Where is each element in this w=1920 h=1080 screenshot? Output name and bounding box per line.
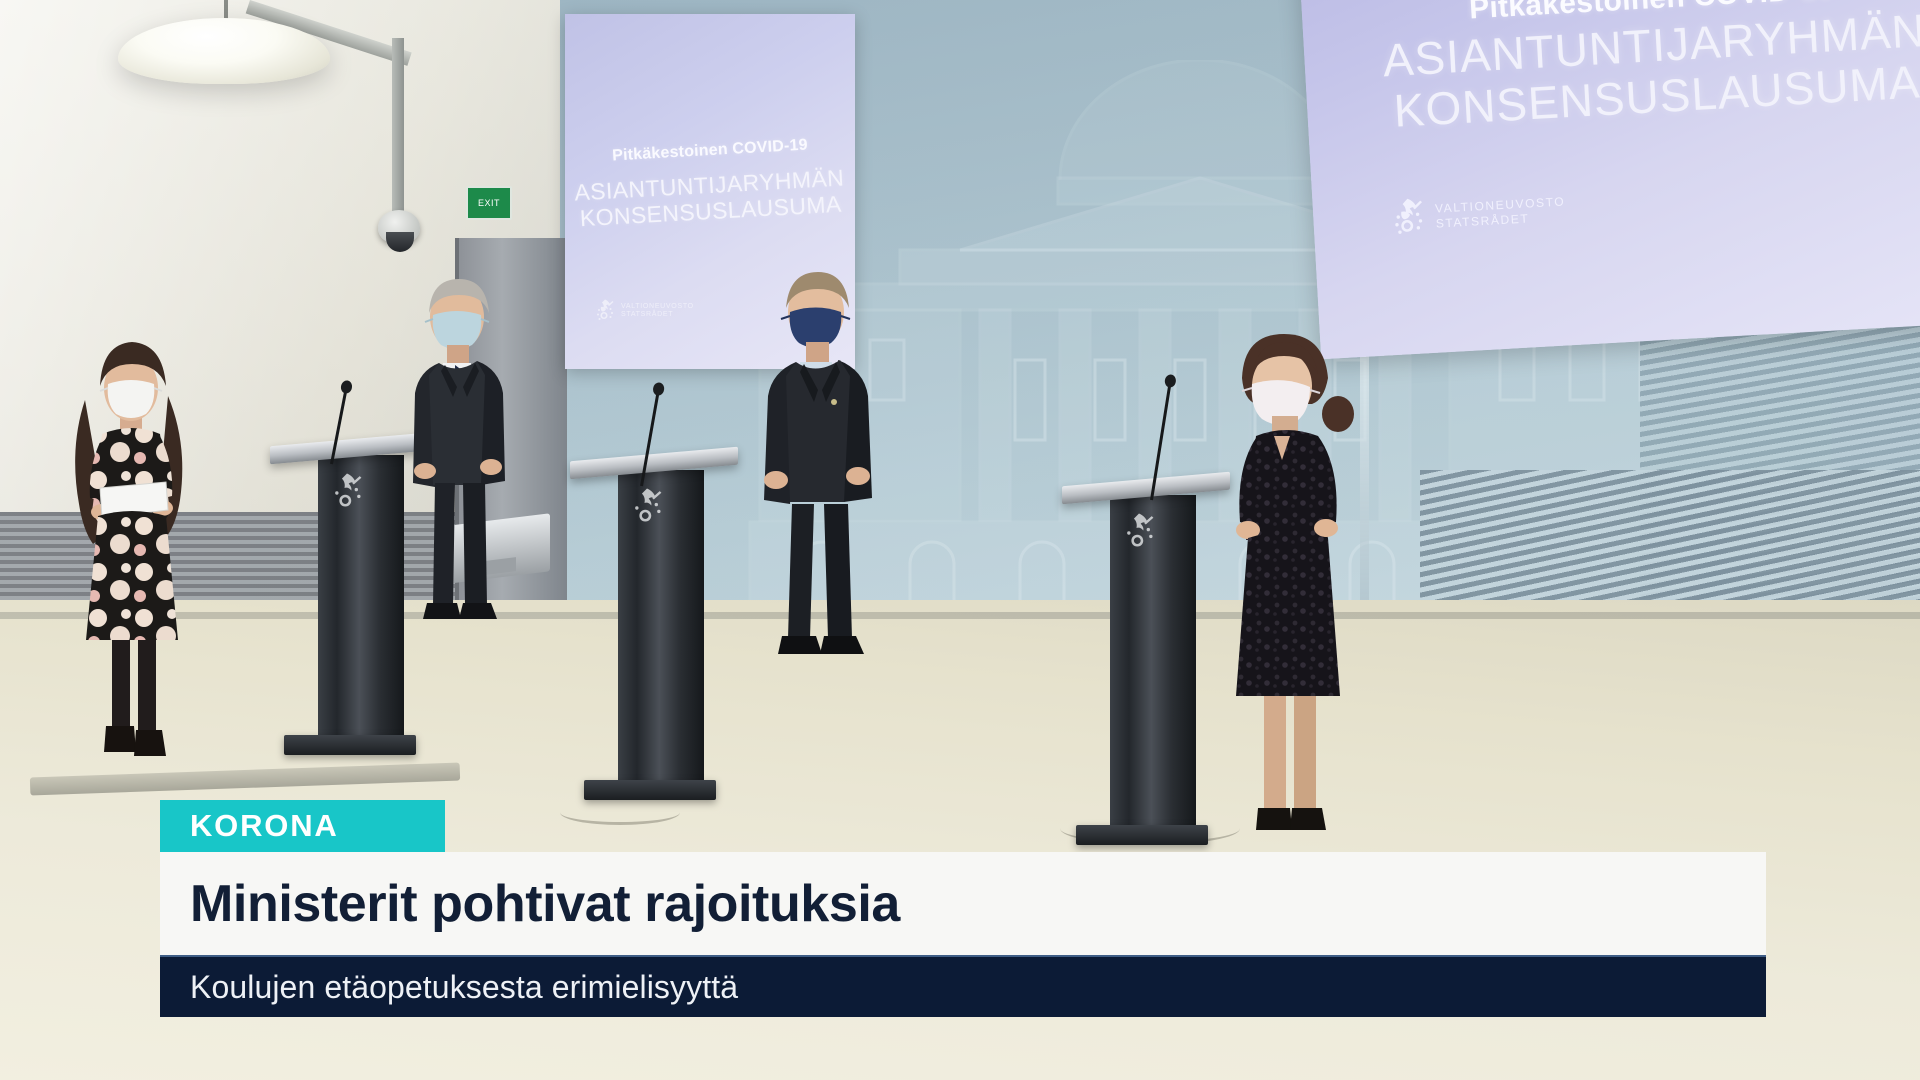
valtioneuvosto-logo-small: VALTIONEUVOSTO STATSRÅDET bbox=[595, 298, 694, 324]
logo-line1-small: VALTIONEUVOSTO bbox=[621, 303, 694, 312]
logo-line2-small: STATSRÅDET bbox=[621, 311, 694, 320]
finnish-lion-crest-icon bbox=[1122, 511, 1156, 555]
finnish-lion-crest-icon bbox=[595, 298, 615, 324]
lower-third-subtitle-bar: Koulujen etäopetuksesta erimielisyyttä bbox=[160, 955, 1766, 1017]
slide-kicker-small: Pitkäkestoinen COVID-19 bbox=[565, 134, 855, 168]
lower-third-subtitle-text: Koulujen etäopetuksesta erimielisyyttä bbox=[190, 969, 738, 1006]
finnish-lion-crest-icon bbox=[1390, 195, 1426, 241]
person-3-man-navy-mask bbox=[740, 268, 930, 688]
lower-third-graphic: KORONA Ministerit pohtivat rajoituksia K… bbox=[160, 800, 1766, 1017]
person-4-woman-lace-dress bbox=[1200, 330, 1390, 850]
lower-third-headline-bar: Ministerit pohtivat rajoituksia bbox=[160, 852, 1766, 955]
valtioneuvosto-logo-large-text: VALTIONEUVOSTO STATSRÅDET bbox=[1435, 194, 1567, 231]
finnish-lion-crest-icon bbox=[630, 486, 664, 530]
lower-third-kicker-badge: KORONA bbox=[160, 800, 445, 852]
lower-third-headline-text: Ministerit pohtivat rajoituksia bbox=[190, 874, 900, 934]
person-2-man-light-mask bbox=[385, 275, 565, 645]
slide-title-small: ASIANTUNTIJARYHMÄN KONSENSUSLAUSUMA bbox=[565, 164, 855, 232]
valtioneuvosto-logo-large: VALTIONEUVOSTO STATSRÅDET bbox=[1390, 187, 1567, 241]
lectern-2-base bbox=[584, 780, 716, 800]
lower-third-kicker-text: KORONA bbox=[190, 808, 339, 844]
lectern-1-base bbox=[284, 735, 416, 755]
person-1-woman-floral-dress bbox=[40, 330, 240, 790]
exit-sign-label: EXIT bbox=[478, 198, 500, 208]
projection-screen-large: Pitkäkestoinen COVID-19 ASIANTUNTIJARYHM… bbox=[1295, 0, 1920, 359]
exit-sign: EXIT bbox=[466, 186, 512, 220]
ceiling-pipe bbox=[392, 38, 404, 228]
radiator-grille-right bbox=[1420, 470, 1920, 615]
broadcast-frame: EXIT Pitkäkestoinen COVID-19 ASIANTUNTIJ… bbox=[0, 0, 1920, 1080]
finnish-lion-crest-icon bbox=[330, 471, 364, 515]
valtioneuvosto-logo-small-text: VALTIONEUVOSTO STATSRÅDET bbox=[621, 303, 694, 320]
floor-wall-seam bbox=[0, 612, 1920, 619]
